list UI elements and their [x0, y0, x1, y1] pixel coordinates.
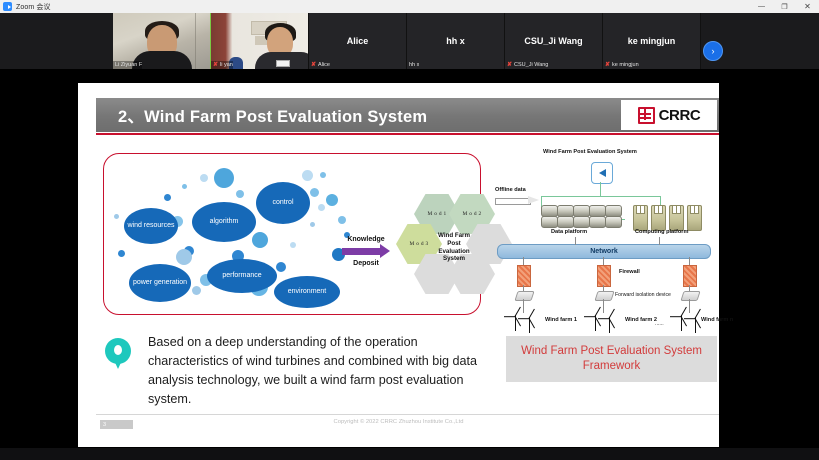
zoom-camera-icon [3, 2, 12, 11]
presentation-slide: 2、Wind Farm Post Evaluation System CRRC [78, 83, 719, 447]
participant-tile-4[interactable]: CSU_Ji Wang ✘ CSU_Ji Wang [505, 13, 603, 69]
wind-farm-n-label: Wind farm n [701, 317, 733, 323]
participant-name: hh x [409, 62, 419, 68]
speaker-broadcast-icon [591, 162, 613, 184]
bubble-wind-resources: wind resources [124, 208, 178, 244]
participant-namebar: ✘ li yan [211, 61, 233, 69]
shared-screen-stage: 2、Wind Farm Post Evaluation System CRRC [0, 69, 819, 448]
participant-tile-3[interactable]: hh x hh x [407, 13, 505, 69]
arch-offline-data-label: Offline data [495, 187, 526, 193]
mic-muted-icon: ✘ [213, 62, 218, 68]
participant-namebar: ✘ Alice [309, 61, 330, 69]
participant-name: Alice [318, 62, 330, 68]
isolation-device-icon-1 [514, 291, 534, 301]
crrc-emblem-icon [638, 107, 655, 124]
arch-firewall-label: Firewall [619, 269, 640, 275]
window-controls: — ❐ ✕ [750, 0, 819, 13]
participant-namebar: ✘ CSU_Ji Wang [505, 61, 548, 69]
crrc-logo: CRRC [621, 100, 717, 130]
bubble-environment: environment [274, 276, 340, 308]
hexagon-center-label: Wind Farm Post Evaluation System [432, 232, 476, 263]
arch-computing-platform-label: Computing platform [635, 229, 688, 235]
wind-turbine-icon-nb [683, 313, 709, 333]
participant-tile-0[interactable]: Li Ziyuan F [113, 13, 211, 69]
participant-tile-5[interactable]: ke mingjun ✘ ke mingjun [603, 13, 701, 69]
bubble-performance: performance [207, 259, 277, 293]
location-pin-icon [105, 338, 131, 370]
wind-farm-1-label: Wind farm 1 [545, 317, 577, 323]
crrc-logo-text: CRRC [659, 107, 701, 124]
bubble-control: control [256, 182, 310, 224]
slide-number: 2、 [118, 108, 144, 126]
participant-namebar: hh x [407, 61, 419, 69]
copyright-text: Copyright © 2022 CRRC Zhuzhou Institute … [78, 419, 719, 425]
minimize-button[interactable]: — [750, 0, 773, 13]
participant-namebar: Li Ziyuan F [113, 61, 142, 69]
wind-turbine-icon-2b [597, 313, 623, 333]
participant-name: ke mingjun [612, 62, 639, 68]
framework-caption: Wind Farm Post Evaluation System Framewo… [506, 336, 717, 382]
arch-system-title: Wind Farm Post Evaluation System [543, 149, 637, 155]
bottom-bar [0, 448, 819, 460]
participant-display-name: hh x [407, 13, 504, 69]
participant-namebar: ✘ ke mingjun [603, 61, 639, 69]
arch-data-platform-label: Data platform [551, 229, 587, 235]
firewall-icon-3 [683, 265, 697, 287]
maximize-button[interactable]: ❐ [773, 0, 796, 13]
participant-tiles: Li Ziyuan F ✘ li yan Alice ✘ Alice [113, 13, 701, 69]
knowledge-deposit-arrow: Knowledge Deposit [340, 236, 392, 270]
wind-turbine-icon-1b [517, 313, 543, 333]
isolation-device-icon-2 [594, 291, 614, 301]
slide-header-bar: 2、Wind Farm Post Evaluation System CRRC [96, 98, 719, 132]
arch-isolation-label: Forward isolation device [615, 292, 671, 298]
wind-farm-2-label: Wind farm 2 [625, 317, 657, 323]
firewall-icon-2 [597, 265, 611, 287]
mic-muted-icon: ✘ [507, 62, 512, 68]
knowledge-label: Knowledge [340, 236, 392, 243]
participant-tile-1[interactable]: ✘ li yan [211, 13, 309, 69]
architecture-diagram: Wind Farm Post Evaluation System Offline… [493, 149, 719, 345]
next-participants-arrow-icon[interactable]: › [703, 41, 723, 61]
footer-divider [96, 414, 719, 415]
close-button[interactable]: ✕ [796, 0, 819, 13]
participant-strip: Li Ziyuan F ✘ li yan Alice ✘ Alice [0, 13, 819, 69]
participant-name: CSU_Ji Wang [514, 62, 548, 68]
mic-muted-icon: ✘ [311, 62, 316, 68]
window-title: Zoom 会议 [16, 2, 51, 12]
bubble-algorithm: algorithm [192, 202, 256, 242]
offline-data-arrow-icon [495, 196, 541, 205]
isolation-device-icon-3 [680, 291, 700, 301]
firewall-icon-1 [517, 265, 531, 287]
zoom-meeting-window: Zoom 会议 — ❐ ✕ Li Ziyuan F [0, 0, 819, 460]
participant-tile-2[interactable]: Alice ✘ Alice [309, 13, 407, 69]
network-bar: Network [497, 244, 711, 259]
participant-name: Li Ziyuan F [115, 62, 142, 68]
window-titlebar: Zoom 会议 — ❐ ✕ [0, 0, 819, 13]
header-rule [96, 133, 719, 135]
mic-muted-icon: ✘ [605, 62, 610, 68]
bubble-power-generation: power generation [129, 264, 191, 302]
knowledge-bubble-panel: wind resources algorithm control perform… [103, 153, 481, 315]
slide-title-text: Wind Farm Post Evaluation System [144, 108, 427, 126]
participant-name: li yan [220, 62, 233, 68]
wind-farm-ellipsis: ...... [655, 321, 664, 327]
page-title: 2、Wind Farm Post Evaluation System [118, 103, 427, 127]
slide-body-text: Based on a deep understanding of the ope… [148, 333, 493, 409]
hexagon-cluster: M o d 1 M o d 2 M o d 3 Wind Farm Post E… [390, 194, 510, 309]
deposit-label: Deposit [340, 260, 392, 267]
